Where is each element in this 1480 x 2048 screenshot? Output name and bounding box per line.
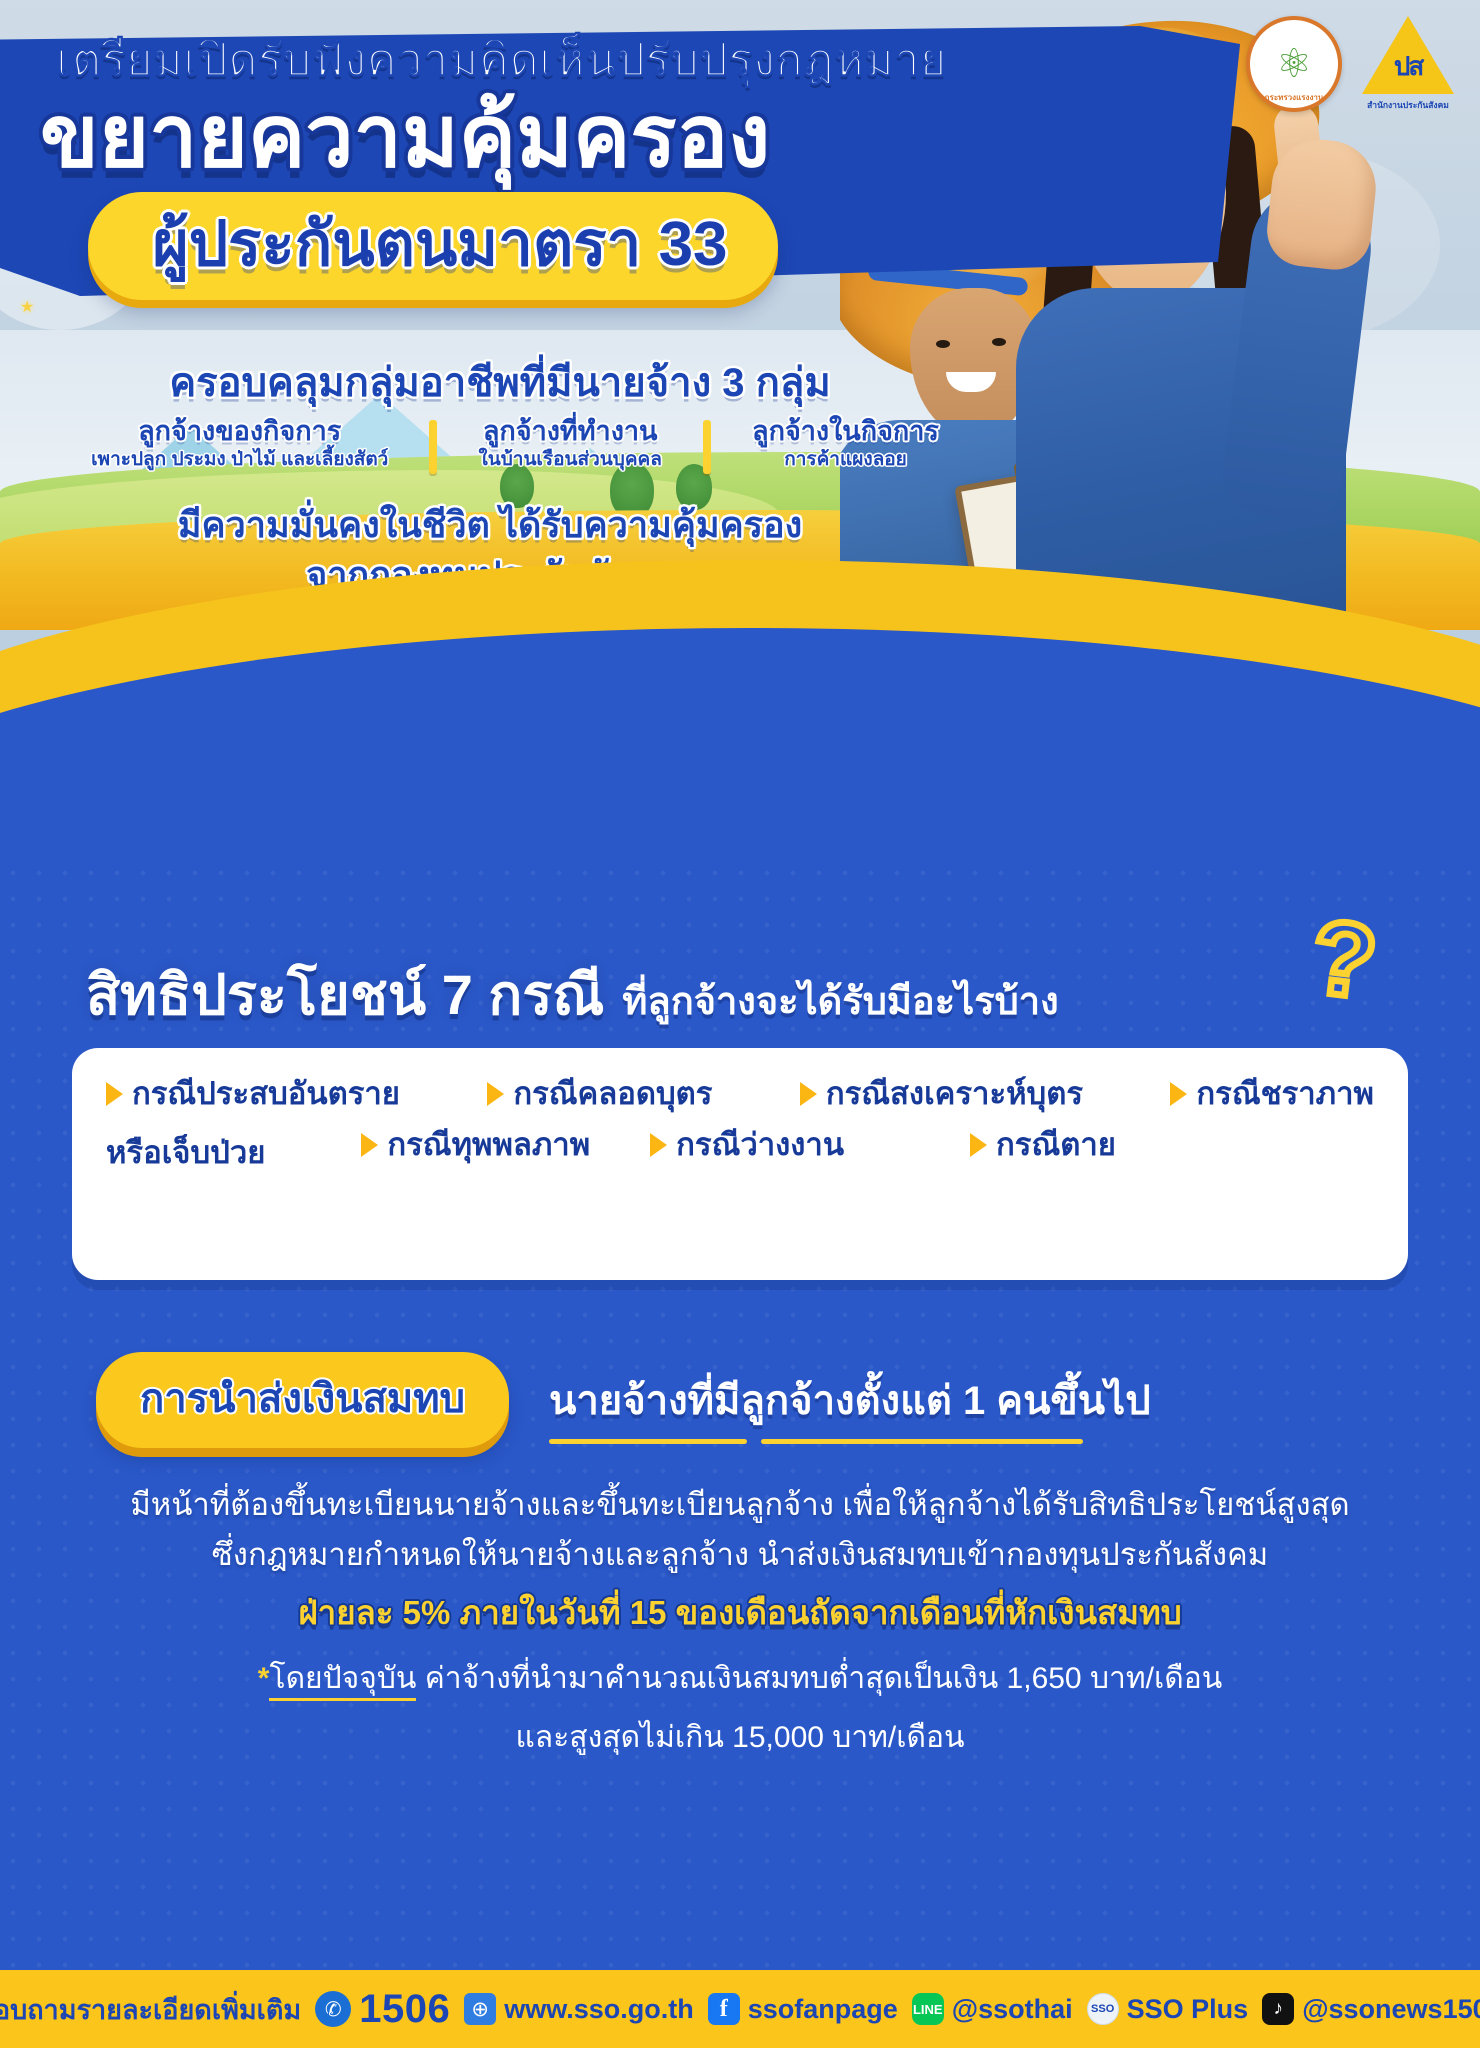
headline-line-1: เตรียมเปิดรับฟังความคิดเห็นปรับปรุงกฎหมา… bbox=[56, 34, 1056, 86]
globe-icon: ⊕ bbox=[464, 1993, 496, 2025]
section33-label: ผู้ประกันตนมาตรา 33 bbox=[110, 206, 770, 284]
underline-accent bbox=[549, 1439, 747, 1444]
contribution-heading: การนำส่งเงินสมทบ นายจ้างที่มีลูกจ้างตั้ง… bbox=[96, 1352, 1151, 1448]
sso-monogram: ปส bbox=[1394, 46, 1422, 87]
occupation-group-1: ลูกจ้างของกิจการ เพาะปลูก ประมง ป่าไม้ แ… bbox=[50, 416, 429, 472]
underline-accent bbox=[761, 1439, 1083, 1444]
group-divider bbox=[429, 420, 437, 474]
facebook-icon: f bbox=[708, 1993, 740, 2025]
note-underlined-text: โดยปัจจุบัน bbox=[269, 1662, 416, 1701]
phone-icon: ✆ bbox=[315, 1991, 351, 2027]
group-subtitle: เพาะปลูก ประมง ป่าไม้ และเลี้ยงสัตว์ bbox=[58, 449, 421, 472]
group-subtitle: ในบ้านเรือนส่วนบุคคล bbox=[445, 449, 695, 472]
line-icon: LINE bbox=[912, 1993, 944, 2025]
benefits-row-2: หรือเจ็บป่วย กรณีทุพพลภาพ กรณีว่างงาน bbox=[106, 1127, 1374, 1177]
group-title: ลูกจ้างที่ทำงาน bbox=[445, 416, 695, 447]
benefits-row-1: กรณีประสบอันตราย กรณีคลอดบุตร กรณีสงเครา… bbox=[106, 1076, 1374, 1113]
occupation-group-2: ลูกจ้างที่ทำงาน ในบ้านเรือนส่วนบุคคล bbox=[437, 416, 703, 472]
contact-footer: สอบถามรายละเอียดเพิ่มเติม ✆ 1506 ⊕ www.s… bbox=[0, 1970, 1480, 2048]
benefit-label: กรณีว่างงาน bbox=[676, 1127, 844, 1164]
footer-tiktok[interactable]: ♪ @ssonews1506 bbox=[1262, 1993, 1480, 2025]
benefit-item-5: กรณีทุพพลภาพ bbox=[361, 1127, 590, 1164]
seal-caption: กระทรวงแรงงาน bbox=[1250, 91, 1338, 104]
benefits-heading-sub: ที่ลูกจ้างจะได้รับมีอะไรบ้าง bbox=[622, 970, 1058, 1031]
tiktok-icon: ♪ bbox=[1262, 1993, 1294, 2025]
benefit-item-6: กรณีว่างงาน bbox=[650, 1127, 844, 1164]
closing-line-1: มีความมั่นคงในชีวิต ได้รับความคุ้มครอง bbox=[178, 504, 803, 545]
benefit-item-3: กรณีสงเคราะห์บุตร bbox=[800, 1076, 1083, 1113]
arrow-bullet-icon bbox=[1170, 1082, 1187, 1106]
eye bbox=[936, 340, 950, 348]
benefits-card: กรณีประสบอันตราย กรณีคลอดบุตร กรณีสงเครา… bbox=[72, 1048, 1408, 1280]
benefit-label: กรณีตาย bbox=[996, 1127, 1116, 1164]
ministry-of-labour-seal-icon: ⚛ กระทรวงแรงงาน bbox=[1246, 16, 1342, 112]
sso-plus-label: SSO Plus bbox=[1127, 1994, 1249, 2025]
group-title: ลูกจ้างในกิจการ bbox=[719, 416, 972, 447]
benefit-label: กรณีประสบอันตราย bbox=[132, 1076, 400, 1113]
coverage-headline: ครอบคลุมกลุ่มอาชีพที่มีนายจ้าง 3 กลุ่ม bbox=[0, 350, 1000, 414]
arrow-bullet-icon bbox=[650, 1133, 667, 1157]
eye bbox=[992, 338, 1006, 346]
asterisk-icon: * bbox=[258, 1662, 270, 1695]
benefit-item-1: กรณีประสบอันตราย bbox=[106, 1076, 400, 1113]
question-mark-icon: ? bbox=[1306, 905, 1382, 1016]
footer-line[interactable]: LINE @ssothai bbox=[912, 1993, 1073, 2025]
arrow-bullet-icon bbox=[487, 1082, 504, 1106]
benefit-item-7: กรณีตาย bbox=[970, 1127, 1116, 1164]
arrow-bullet-icon bbox=[800, 1082, 817, 1106]
benefits-heading-main: สิทธิประโยชน์ 7 กรณี bbox=[86, 950, 604, 1039]
benefit-label: กรณีทุพพลภาพ bbox=[387, 1127, 590, 1164]
main-body: สิทธิประโยชน์ 7 กรณี ที่ลูกจ้างจะได้รับม… bbox=[0, 860, 1480, 1970]
benefits-heading: สิทธิประโยชน์ 7 กรณี ที่ลูกจ้างจะได้รับม… bbox=[86, 950, 1059, 1039]
sso-caption: สำนักงานประกันสังคม bbox=[1358, 98, 1458, 112]
poster-root: ★ ★ ★ ★ bbox=[0, 0, 1480, 2048]
contribution-highlight: ฝ่ายละ 5% ภายในวันที่ 15 ของเดือนถัดจากเ… bbox=[0, 1586, 1480, 1639]
footer-sso-plus[interactable]: SSO SSO Plus bbox=[1087, 1993, 1249, 2025]
group-subtitle: การค้าแผงลอย bbox=[719, 449, 972, 472]
line-handle: @ssothai bbox=[952, 1994, 1073, 2025]
website-url: www.sso.go.th bbox=[504, 1994, 694, 2025]
footer-prompt: สอบถามรายละเอียดเพิ่มเติม bbox=[0, 1988, 301, 2031]
paragraph-line-1: มีหน้าที่ต้องขึ้นทะเบียนนายจ้างและขึ้นทะ… bbox=[0, 1480, 1480, 1530]
phone-number: 1506 bbox=[359, 1987, 450, 2032]
hero-section: ★ ★ ★ ★ bbox=[0, 0, 1480, 880]
group-divider bbox=[703, 420, 711, 474]
benefit-item-1-continued: หรือเจ็บป่วย bbox=[106, 1127, 265, 1177]
contribution-pill-label: การนำส่งเงินสมทบ bbox=[140, 1377, 465, 1421]
contribution-paragraph: มีหน้าที่ต้องขึ้นทะเบียนนายจ้างและขึ้นทะ… bbox=[0, 1480, 1480, 1640]
arrow-bullet-icon bbox=[361, 1133, 378, 1157]
paragraph-line-2: ซึ่งกฎหมายกำหนดให้นายจ้างและลูกจ้าง นำส่… bbox=[0, 1530, 1480, 1580]
headline-line-2: ขยายความคุ้มครอง bbox=[40, 92, 1140, 182]
arrow-bullet-icon bbox=[106, 1082, 123, 1106]
sso-triangle-logo-icon: ปส สำนักงานประกันสังคม bbox=[1358, 16, 1458, 112]
group-title: ลูกจ้างของกิจการ bbox=[58, 416, 421, 447]
occupation-groups: ลูกจ้างของกิจการ เพาะปลูก ประมง ป่าไม้ แ… bbox=[50, 416, 980, 474]
footer-website[interactable]: ⊕ www.sso.go.th bbox=[464, 1993, 694, 2025]
sparkle-icon: ★ bbox=[20, 300, 34, 316]
benefit-label: กรณีสงเคราะห์บุตร bbox=[826, 1076, 1083, 1113]
logo-group: ⚛ กระทรวงแรงงาน ปส สำนักงานประกันสังคม bbox=[1246, 16, 1458, 112]
contribution-subtitle: นายจ้างที่มีลูกจ้างตั้งแต่ 1 คนขึ้นไป bbox=[549, 1368, 1151, 1432]
seal-figure-icon: ⚛ bbox=[1276, 44, 1312, 84]
sso-app-icon: SSO bbox=[1087, 1993, 1119, 2025]
wage-note: *โดยปัจจุบัน ค่าจ้างที่นำมาคำนวณเงินสมทบ… bbox=[0, 1650, 1480, 1767]
benefit-item-4: กรณีชราภาพ bbox=[1170, 1076, 1374, 1113]
facebook-handle: ssofanpage bbox=[748, 1994, 898, 2025]
footer-facebook[interactable]: f ssofanpage bbox=[708, 1993, 898, 2025]
curve-blue bbox=[0, 628, 1480, 880]
tiktok-handle: @ssonews1506 bbox=[1302, 1994, 1480, 2025]
note-line-2: และสูงสุดไม่เกิน 15,000 บาท/เดือน bbox=[0, 1709, 1480, 1768]
contribution-subtitle-text: นายจ้างที่มีลูกจ้างตั้งแต่ 1 คนขึ้นไป bbox=[549, 1379, 1151, 1423]
benefit-label: กรณีคลอดบุตร bbox=[513, 1076, 712, 1113]
benefit-item-2: กรณีคลอดบุตร bbox=[487, 1076, 712, 1113]
contribution-pill: การนำส่งเงินสมทบ bbox=[96, 1352, 509, 1448]
occupation-group-3: ลูกจ้างในกิจการ การค้าแผงลอย bbox=[711, 416, 980, 472]
note-line-1-rest: ค่าจ้างที่นำมาคำนวณเงินสมทบต่ำสุดเป็นเงิ… bbox=[416, 1662, 1222, 1695]
arrow-bullet-icon bbox=[970, 1133, 987, 1157]
benefit-label: กรณีชราภาพ bbox=[1196, 1076, 1374, 1113]
footer-phone[interactable]: ✆ 1506 bbox=[315, 1987, 450, 2032]
